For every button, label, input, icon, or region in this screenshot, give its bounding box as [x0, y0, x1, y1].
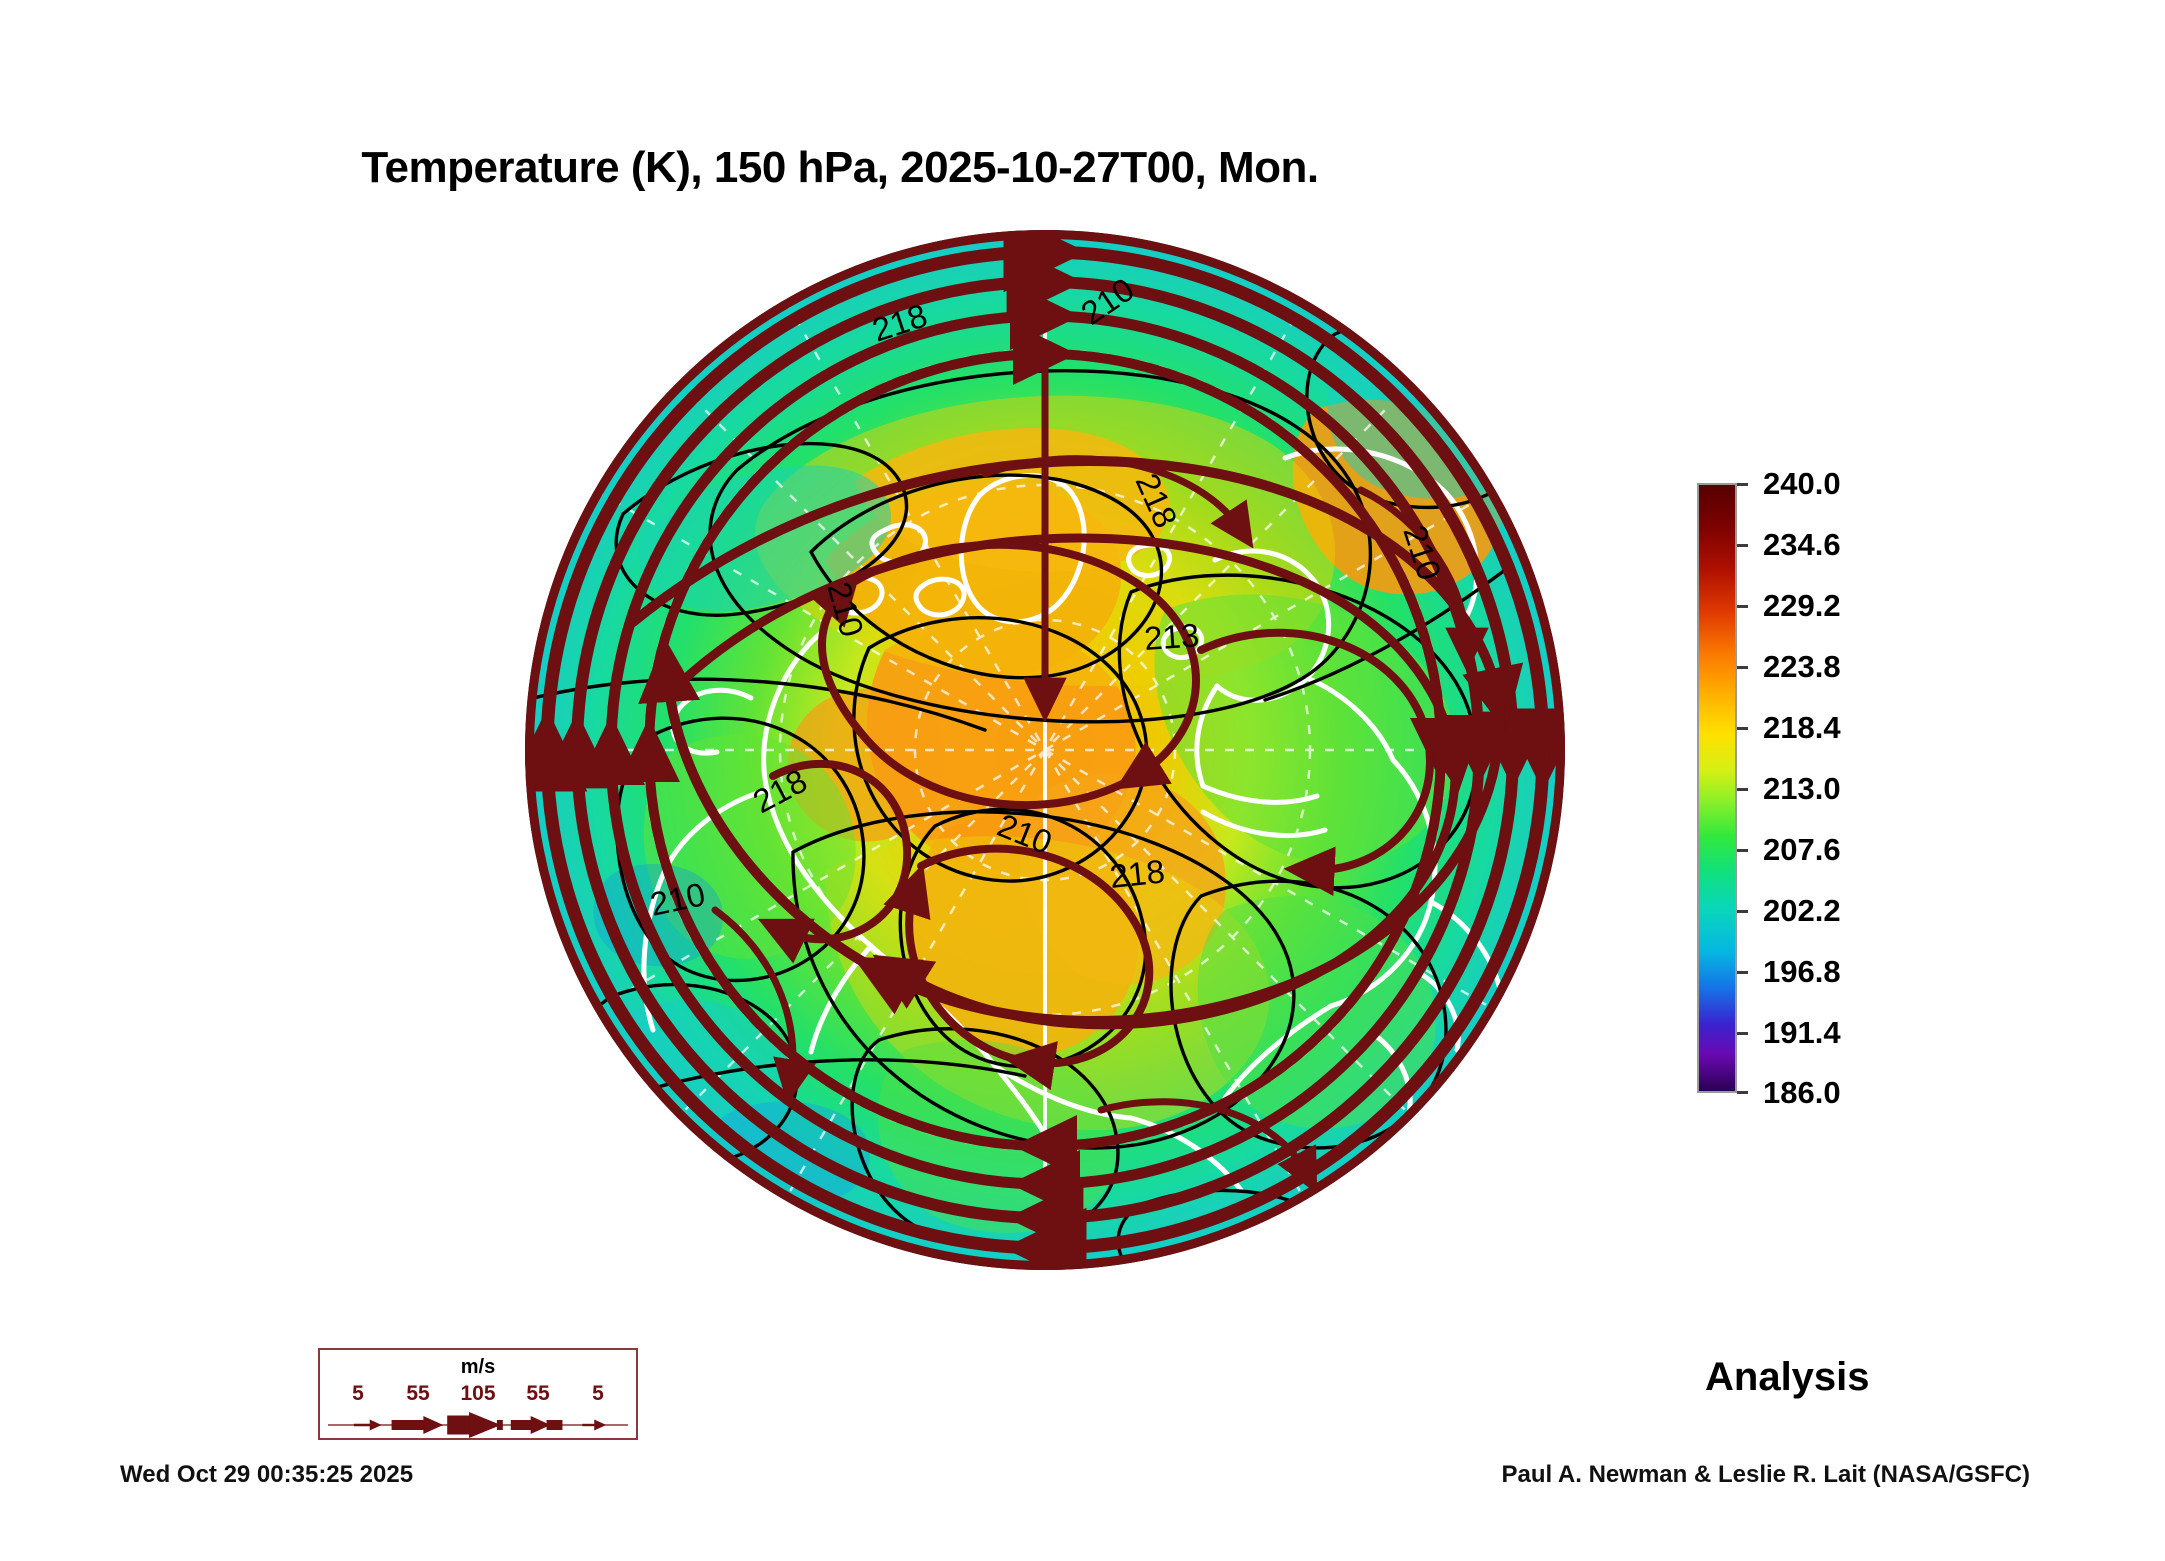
wind-value-labels: 5 55 105 55 5 — [328, 1382, 628, 1406]
page-title: Temperature (K), 150 hPa, 2025-10-27T00,… — [0, 143, 1680, 193]
wind-speed-legend[interactable]: m/s 5 55 105 55 5 — [318, 1348, 638, 1440]
colorbar[interactable]: 240.0 234.6 229.2 223.8 218.4 213.0 207.… — [1697, 478, 2027, 1098]
colorbar-tick — [1737, 910, 1748, 913]
colorbar-label-186: 186.0 — [1763, 1077, 1841, 1108]
colorbar-tick — [1737, 971, 1748, 974]
colorbar-tick — [1737, 605, 1748, 608]
contour-label: 218 — [1129, 468, 1185, 533]
colorbar-label-218: 218.4 — [1763, 712, 1841, 743]
colorbar-tick — [1737, 483, 1748, 486]
colorbar-label-223: 223.8 — [1763, 651, 1841, 682]
contour-label: 218 — [868, 296, 932, 348]
analysis-label: Analysis — [1705, 1355, 1870, 1400]
colorbar-tick — [1737, 849, 1748, 852]
colorbar-tick — [1737, 788, 1748, 791]
contour-label-layer: 218 210 218 213 210 210 218 218 210 210 — [525, 230, 1565, 1270]
wind-value-4: 55 — [508, 1382, 568, 1406]
colorbar-label-202: 202.2 — [1763, 895, 1841, 926]
colorbar-label-207: 207.6 — [1763, 834, 1841, 865]
colorbar-tick — [1737, 666, 1748, 669]
contour-label: 210 — [820, 578, 871, 641]
colorbar-label-191: 191.4 — [1763, 1017, 1841, 1048]
globe-disc[interactable]: 218 210 218 213 210 210 218 218 210 210 — [525, 230, 1565, 1270]
contour-label: 210 — [1074, 270, 1140, 331]
contour-label: 213 — [1143, 616, 1201, 657]
colorbar-label-234: 234.6 — [1763, 529, 1841, 560]
wind-value-1: 5 — [328, 1382, 388, 1406]
wind-arrow-glyphs — [326, 1412, 630, 1438]
colorbar-gradient — [1697, 483, 1737, 1093]
polar-map-panel[interactable]: 218 210 218 213 210 210 218 218 210 210 — [525, 230, 1565, 1270]
colorbar-label-196: 196.8 — [1763, 956, 1841, 987]
colorbar-tick — [1737, 1032, 1748, 1035]
wind-value-3: 105 — [448, 1382, 508, 1406]
contour-label: 218 — [747, 762, 813, 821]
colorbar-label-240: 240.0 — [1763, 468, 1841, 499]
generation-timestamp: Wed Oct 29 00:35:25 2025 — [120, 1461, 413, 1489]
colorbar-tick — [1737, 1091, 1748, 1094]
wind-value-2: 55 — [388, 1382, 448, 1406]
colorbar-label-213: 213.0 — [1763, 773, 1841, 804]
attribution-credit: Paul A. Newman & Leslie R. Lait (NASA/GS… — [1501, 1461, 2030, 1489]
contour-label: 218 — [1108, 852, 1167, 895]
contour-label: 210 — [992, 806, 1057, 861]
contour-label: 210 — [647, 875, 709, 923]
colorbar-tick — [1737, 544, 1748, 547]
colorbar-label-229: 229.2 — [1763, 590, 1841, 621]
wind-value-5: 5 — [568, 1382, 628, 1406]
wind-units-label: m/s — [320, 1356, 636, 1379]
contour-label: 210 — [1396, 521, 1448, 585]
colorbar-tick — [1737, 727, 1748, 730]
